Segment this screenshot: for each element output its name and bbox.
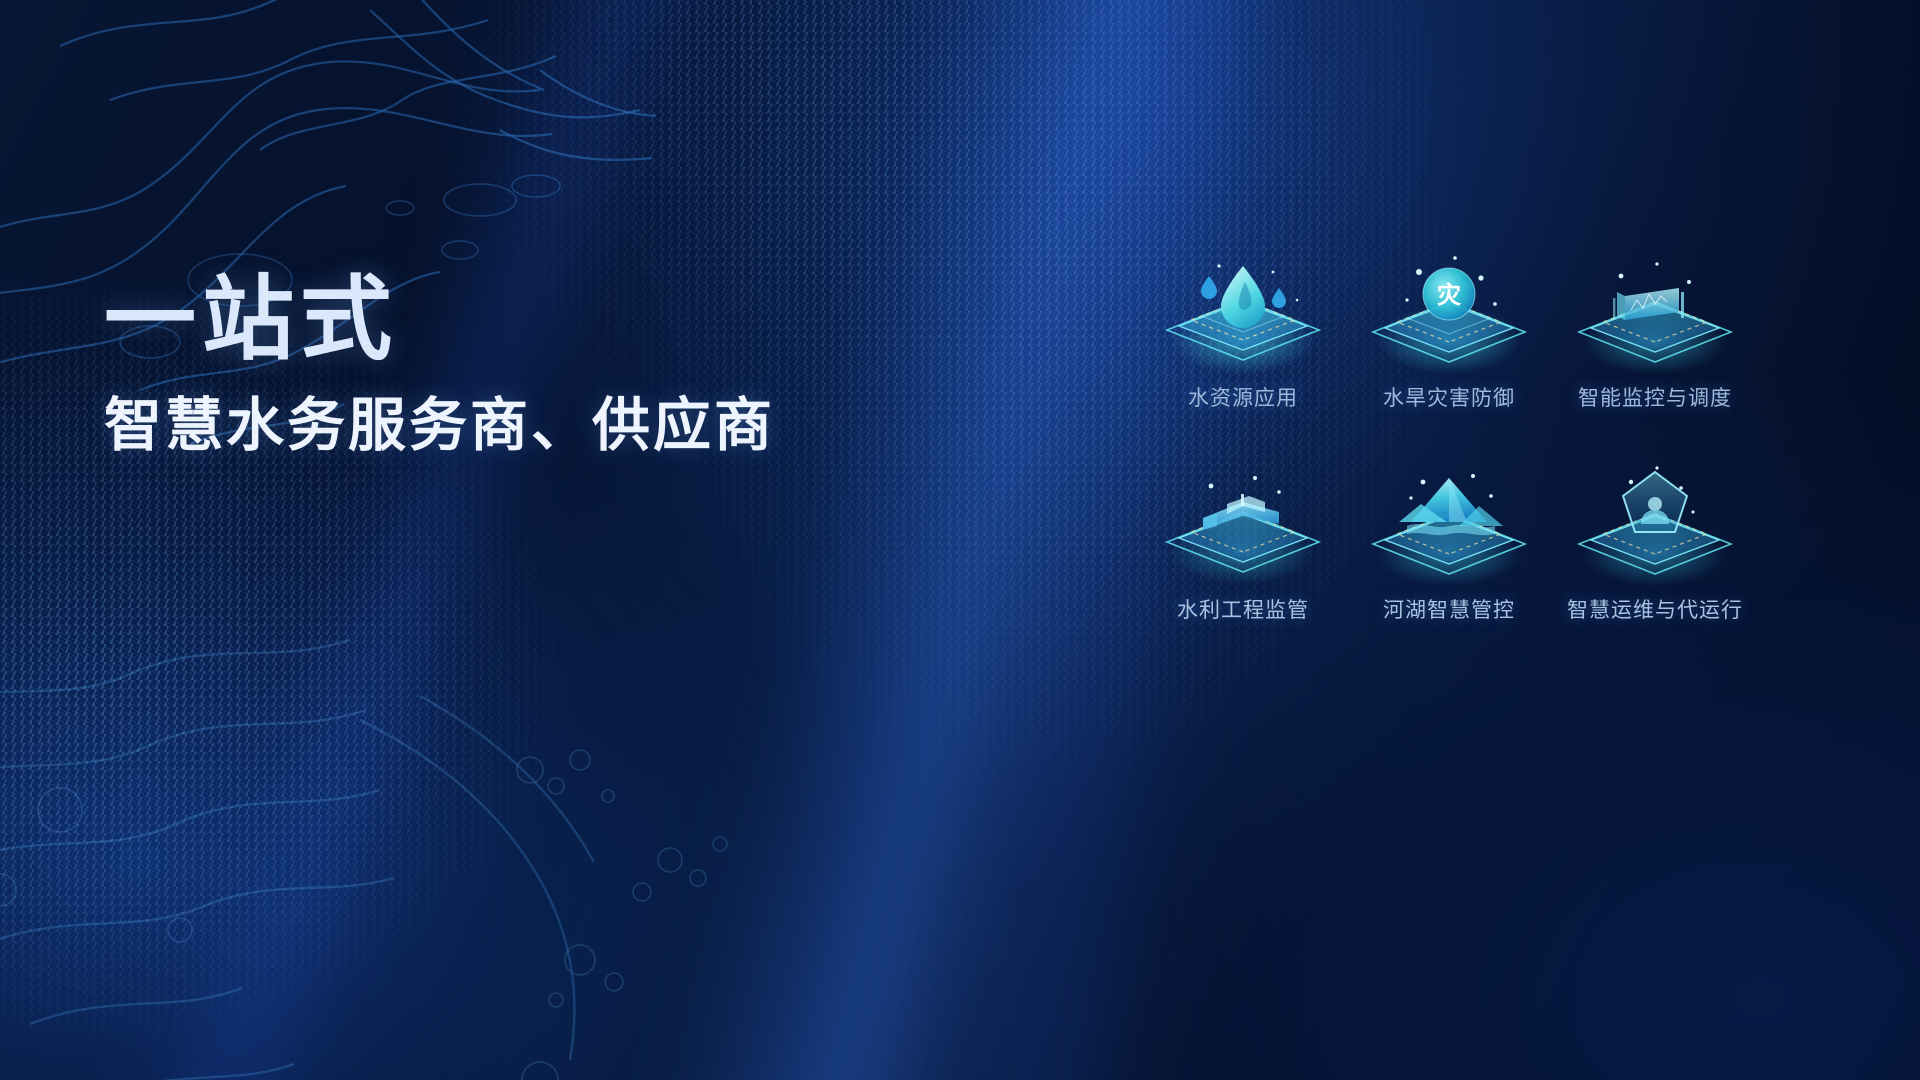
capability-label: 水利工程监管 <box>1177 594 1309 624</box>
capability-item-disaster-defense[interactable]: 灾 水旱灾害防御 <box>1346 248 1552 412</box>
capability-label: 水资源应用 <box>1188 382 1298 412</box>
capability-item-water-resource[interactable]: 水资源应用 <box>1140 248 1346 412</box>
page-subtitle: 智慧水务服务商、供应商 <box>104 394 1004 459</box>
disaster-badge-text: 灾 <box>1437 281 1461 309</box>
capability-item-smart-monitoring[interactable]: 智能监控与调度 <box>1552 248 1758 412</box>
disaster-sphere-icon: 灾 <box>1363 248 1535 376</box>
dam-structure-icon <box>1157 460 1329 588</box>
capability-item-hydraulic-supervision[interactable]: 水利工程监管 <box>1140 460 1346 624</box>
water-ripple-texture-bottomleft <box>0 600 780 1080</box>
page-title: 一站式 <box>104 272 1004 370</box>
capability-label: 智慧运维与代运行 <box>1567 594 1743 624</box>
capability-label: 智能监控与调度 <box>1578 382 1732 412</box>
river-mountain-icon <box>1363 460 1535 588</box>
headline-block: 一站式 智慧水务服务商、供应商 <box>104 272 1004 458</box>
light-band-left <box>61 0 749 1080</box>
capability-label: 水旱灾害防御 <box>1383 382 1515 412</box>
capability-label: 河湖智慧管控 <box>1383 594 1515 624</box>
capability-grid: 水资源应用 <box>1140 248 1760 624</box>
shield-pentagon-icon <box>1569 460 1741 588</box>
capability-row-1: 水资源应用 <box>1140 248 1760 412</box>
water-drop-icon <box>1157 248 1329 376</box>
capability-row-2: 水利工程监管 <box>1140 460 1760 624</box>
capability-item-smart-ops[interactable]: 智慧运维与代运行 <box>1552 460 1758 624</box>
monitor-console-icon <box>1569 248 1741 376</box>
capability-item-river-lake-control[interactable]: 河湖智慧管控 <box>1346 460 1552 624</box>
slide-canvas: 一站式 智慧水务服务商、供应商 <box>0 0 1920 1080</box>
